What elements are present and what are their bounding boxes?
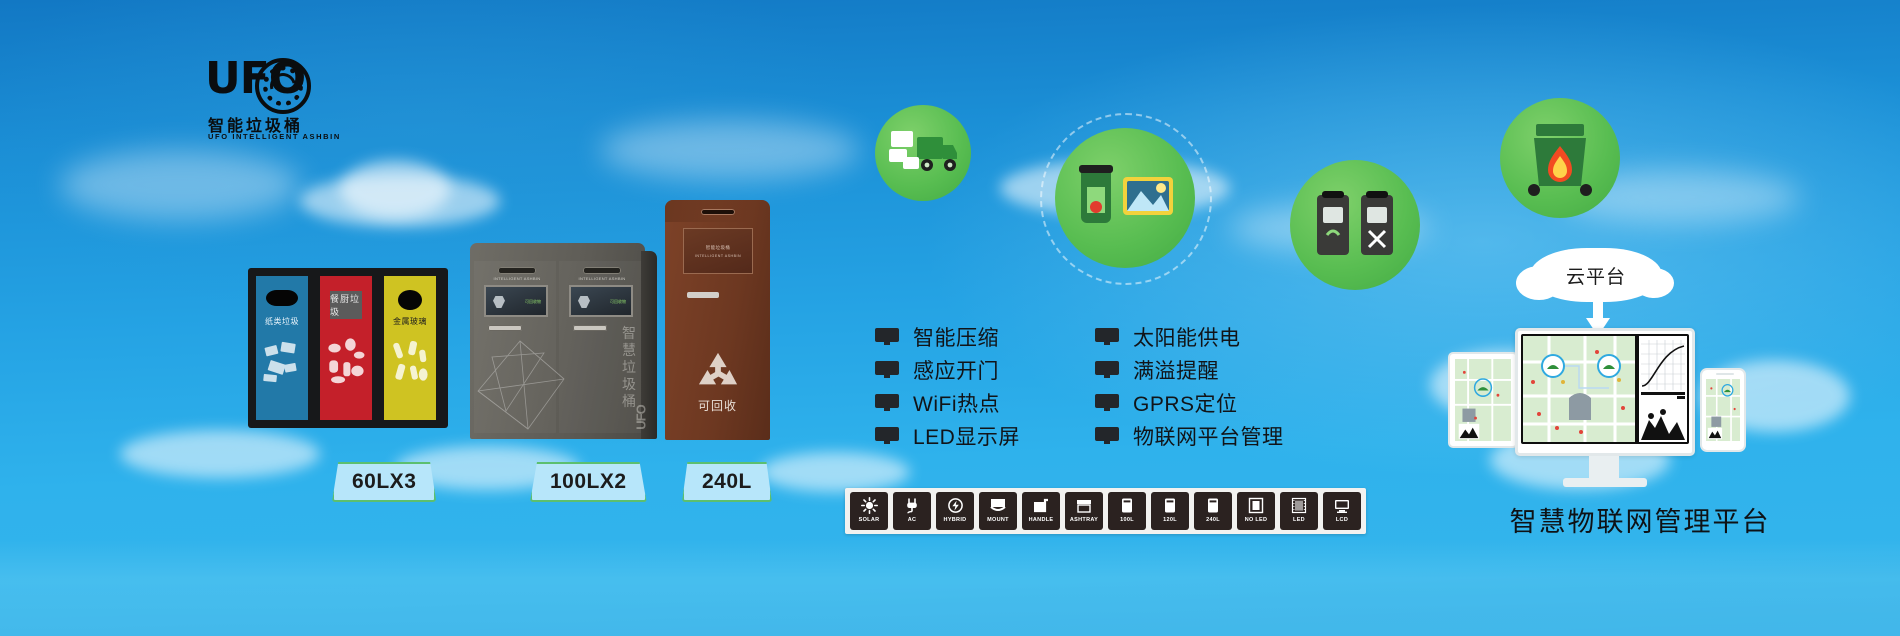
feature-label: LED显示屏: [913, 421, 1020, 451]
cloud-platform-badge: 云平台: [1530, 248, 1662, 302]
bin-vertical-text: 智慧垃圾桶: [621, 325, 637, 410]
monitor-icon: [1095, 394, 1119, 411]
option-ac: AC: [893, 492, 931, 530]
bin-brand-mark: UFO: [633, 405, 648, 429]
option-caption: SOLAR: [859, 517, 880, 523]
bin-display-screen: 可回收物: [569, 285, 633, 317]
led-screen-icon: [1291, 495, 1307, 516]
option-caption: 240L: [1206, 517, 1220, 523]
option-caption: 120L: [1163, 517, 1177, 523]
bin-handle: [687, 292, 719, 298]
feature-column-right: 太阳能供电 满溢提醒 GPRS定位 物联网平台管理: [1095, 320, 1284, 452]
option-caption: AC: [908, 517, 917, 523]
logo-ring-icon: [255, 58, 311, 114]
bin-display-screen: 可回收物: [484, 285, 548, 317]
option-ashtray: ASHTRAY: [1065, 492, 1103, 530]
bin-handle: [573, 325, 607, 331]
option-caption: HYBRID: [944, 517, 967, 523]
phone-speaker: [1716, 373, 1734, 375]
monitor-icon: [875, 427, 899, 444]
map-graphic: [1455, 359, 1511, 441]
option-100l: 100L: [1108, 492, 1146, 530]
bin-cell-label: 餐厨垃圾: [330, 292, 362, 318]
bin-cell-label: 纸类垃圾: [256, 316, 308, 327]
compaction-truck-icon: [887, 125, 959, 181]
option-caption: MOUNT: [987, 517, 1009, 523]
platform-title: 智慧物联网管理平台: [1475, 500, 1805, 539]
option-240l: 240L: [1194, 492, 1232, 530]
wall-mount-icon: [989, 495, 1007, 516]
bin-waste-illustration: [388, 334, 432, 387]
tablet-screen: [1455, 359, 1511, 441]
brown-bin-product: 智能垃圾桶 INTELLIGENT ASHBIN 可回收: [665, 200, 770, 440]
option-caption: LED: [1293, 517, 1305, 523]
feature-item: 智能压缩: [875, 320, 1020, 353]
analytics-graphic: [1639, 336, 1687, 442]
feature-label: WiFi热点: [913, 388, 1000, 418]
feature-label: GPRS定位: [1133, 388, 1238, 418]
tablet-device: [1448, 352, 1518, 448]
option-mount: MOUNT: [979, 492, 1017, 530]
bin-icon: [1207, 495, 1219, 516]
cloud-decoration: [340, 160, 450, 218]
monitor-icon: [875, 328, 899, 345]
capacity-tag-100lx2: 100LX2: [530, 462, 647, 502]
phone-screen: [1706, 379, 1740, 441]
ashtray-icon: [1075, 495, 1093, 516]
option-no-led: NO LED: [1237, 492, 1275, 530]
feature-label: 满溢提醒: [1133, 355, 1219, 385]
dual-bin-icon: [1307, 185, 1403, 265]
option-120l: 120L: [1151, 492, 1189, 530]
feature-item: LED显示屏: [875, 419, 1020, 452]
bin-cell-plate: 餐厨垃圾: [327, 288, 365, 322]
feature-label: 太阳能供电: [1133, 322, 1241, 352]
bin-waste-illustration: [260, 334, 304, 387]
cloud-decoration: [120, 430, 320, 478]
feature-circle-dual-bin: [1290, 160, 1420, 290]
recycle-icon: [695, 350, 741, 392]
bin-cell-kitchen: 餐厨垃圾: [318, 274, 374, 422]
monitor-icon: [1095, 361, 1119, 378]
bin-display-panel: 智能垃圾桶 INTELLIGENT ASHBIN: [683, 228, 753, 274]
option-lcd: LCD: [1323, 492, 1361, 530]
bin-handle: [488, 325, 522, 331]
polygon-graphic: [472, 339, 568, 431]
monitor-screen: [1521, 334, 1689, 444]
monitor-foot: [1563, 478, 1647, 487]
bin-slot-opening: [266, 290, 298, 306]
feature-circle-solar: [1055, 128, 1195, 268]
bin-vent-icon: [701, 209, 735, 215]
bin-waste-illustration: [324, 334, 368, 387]
map-graphic: [1523, 336, 1635, 442]
feature-label: 感应开门: [913, 355, 999, 385]
map-panel: [1523, 336, 1635, 442]
bin-screen-text: 可回收物: [525, 299, 541, 305]
bin-vent-icon: [498, 267, 536, 274]
capacity-tag-240l: 240L: [682, 462, 772, 502]
option-caption: LCD: [1336, 517, 1348, 523]
cloud-decoration: [600, 120, 860, 180]
cloud-decoration: [60, 150, 300, 220]
monitor-icon: [1095, 427, 1119, 444]
option-caption: 100L: [1120, 517, 1134, 523]
option-handle: HANDLE: [1022, 492, 1060, 530]
feature-column-left: 智能压缩 感应开门 WiFi热点 LED显示屏: [875, 320, 1020, 452]
option-solar: SOLAR: [850, 492, 888, 530]
bin-cell-label: 金属玻璃: [384, 316, 436, 327]
monitor-icon: [875, 394, 899, 411]
feature-item: 满溢提醒: [1095, 353, 1284, 386]
bin-recycle-label: 可回收: [665, 397, 770, 414]
option-caption: NO LED: [1245, 517, 1268, 523]
feature-circle-fire-alarm: [1500, 98, 1620, 218]
bin-vent-icon: [583, 267, 621, 274]
cloud-platform-label: 云平台: [1530, 248, 1662, 302]
monitor-stand: [1589, 456, 1619, 480]
feature-label: 智能压缩: [913, 322, 999, 352]
lcd-screen-icon: [1333, 495, 1351, 516]
option-icon-strip: SOLAR AC HYBRID MOUNT: [845, 488, 1366, 534]
leaf-icon: [493, 296, 505, 308]
handle-icon: [1032, 495, 1050, 516]
feature-label: 物联网平台管理: [1133, 421, 1284, 451]
map-graphic: [1706, 379, 1740, 441]
bin-icon: [1164, 495, 1176, 516]
feature-item: 太阳能供电: [1095, 320, 1284, 353]
phone-device: [1700, 368, 1746, 452]
solar-bin-icon: [1069, 161, 1181, 235]
chart-panel: [1639, 336, 1687, 442]
promo-banner: UFO 智能垃圾桶 UFO INTELLIGENT ASHBIN 纸类垃圾 餐厨: [0, 0, 1900, 636]
fire-alarm-bin-icon: [1516, 118, 1604, 198]
brand-logo: UFO 智能垃圾桶 UFO INTELLIGENT ASHBIN: [205, 52, 315, 150]
feature-item: 感应开门: [875, 353, 1020, 386]
bin-icon: [1121, 495, 1133, 516]
blank-screen-icon: [1248, 495, 1264, 516]
logo-name-en: UFO INTELLIGENT ASHBIN: [208, 132, 341, 141]
bin-cell-metal-glass: 金属玻璃: [382, 274, 438, 422]
bin-panel-subtitle: INTELLIGENT ASHBIN: [488, 276, 546, 281]
double-grey-bin-product: INTELLIGENT ASHBIN 可回收物 INTELLIGENT ASHB…: [470, 243, 645, 439]
bin-cell-paper: 纸类垃圾: [254, 274, 310, 422]
feature-item: 物联网平台管理: [1095, 419, 1284, 452]
bin-panel-subtitle: INTELLIGENT ASHBIN: [573, 276, 631, 281]
three-color-bin-product: 纸类垃圾 餐厨垃圾: [248, 268, 448, 428]
bin-slot-opening: [398, 290, 422, 310]
feature-item: WiFi热点: [875, 386, 1020, 419]
bin-panel-title: 智能垃圾桶: [706, 245, 731, 251]
hybrid-bolt-icon: [947, 495, 964, 516]
feature-item: GPRS定位: [1095, 386, 1284, 419]
desktop-monitor: [1515, 328, 1695, 456]
option-caption: ASHTRAY: [1070, 517, 1098, 523]
sun-icon: [861, 495, 878, 516]
plug-icon: [904, 495, 921, 516]
feature-circle-compaction: [875, 105, 971, 201]
option-led: LED: [1280, 492, 1318, 530]
bin-screen-text: 可回收物: [610, 299, 626, 305]
cloud-decoration: [760, 452, 910, 492]
option-hybrid: HYBRID: [936, 492, 974, 530]
option-caption: HANDLE: [1029, 517, 1054, 523]
bin-panel-subtitle: INTELLIGENT ASHBIN: [695, 254, 741, 258]
monitor-icon: [1095, 328, 1119, 345]
capacity-tag-60lx3: 60LX3: [332, 462, 436, 502]
leaf-icon: [578, 296, 590, 308]
monitor-icon: [875, 361, 899, 378]
